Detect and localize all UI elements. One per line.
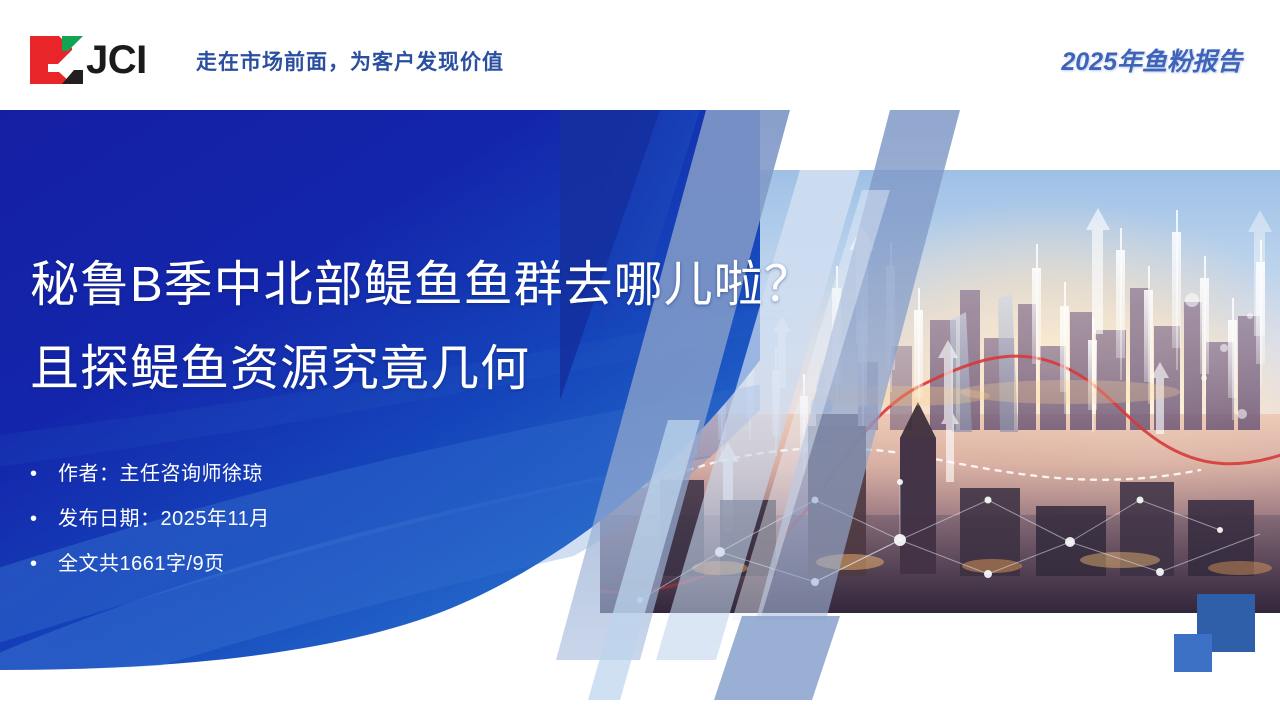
decor-square-small: [1174, 634, 1212, 672]
cover-title-line-2: 且探鳀鱼资源究竟几何: [30, 327, 970, 411]
bullet-marker-icon: •: [24, 497, 58, 542]
brand-logo-text: JCI: [86, 36, 147, 84]
cover-title: 秘鲁B季中北部鳀鱼鱼群去哪儿啦？ 且探鳀鱼资源究竟几何: [30, 243, 970, 411]
cover-title-line-1: 秘鲁B季中北部鳀鱼鱼群去哪儿啦？: [30, 243, 970, 327]
author-text: 作者：主任咨询师徐琼: [58, 452, 263, 497]
publish-date-text: 发布日期：2025年11月: [58, 497, 270, 542]
bullet-marker-icon: •: [24, 542, 58, 587]
brand-tagline: 走在市场前面，为客户发现价值: [196, 46, 504, 76]
report-series-label: 2025年鱼粉报告: [1061, 42, 1242, 78]
bullet-marker-icon: •: [24, 452, 58, 497]
list-item: • 全文共1661字/9页: [24, 542, 270, 587]
slide-canvas: JCI 走在市场前面，为客户发现价值 2025年鱼粉报告 秘鲁B季中北部鳀鱼鱼群…: [0, 0, 1280, 720]
list-item: • 发布日期：2025年11月: [24, 497, 270, 542]
jci-bracket-logo-icon: [28, 34, 84, 86]
list-item: • 作者：主任咨询师徐琼: [24, 452, 270, 497]
brand-logo[interactable]: JCI: [28, 32, 168, 88]
page-header: JCI 走在市场前面，为客户发现价值 2025年鱼粉报告: [0, 0, 1280, 110]
cover-meta-list: • 作者：主任咨询师徐琼 • 发布日期：2025年11月 • 全文共1661字/…: [24, 452, 270, 587]
length-text: 全文共1661字/9页: [58, 542, 225, 587]
